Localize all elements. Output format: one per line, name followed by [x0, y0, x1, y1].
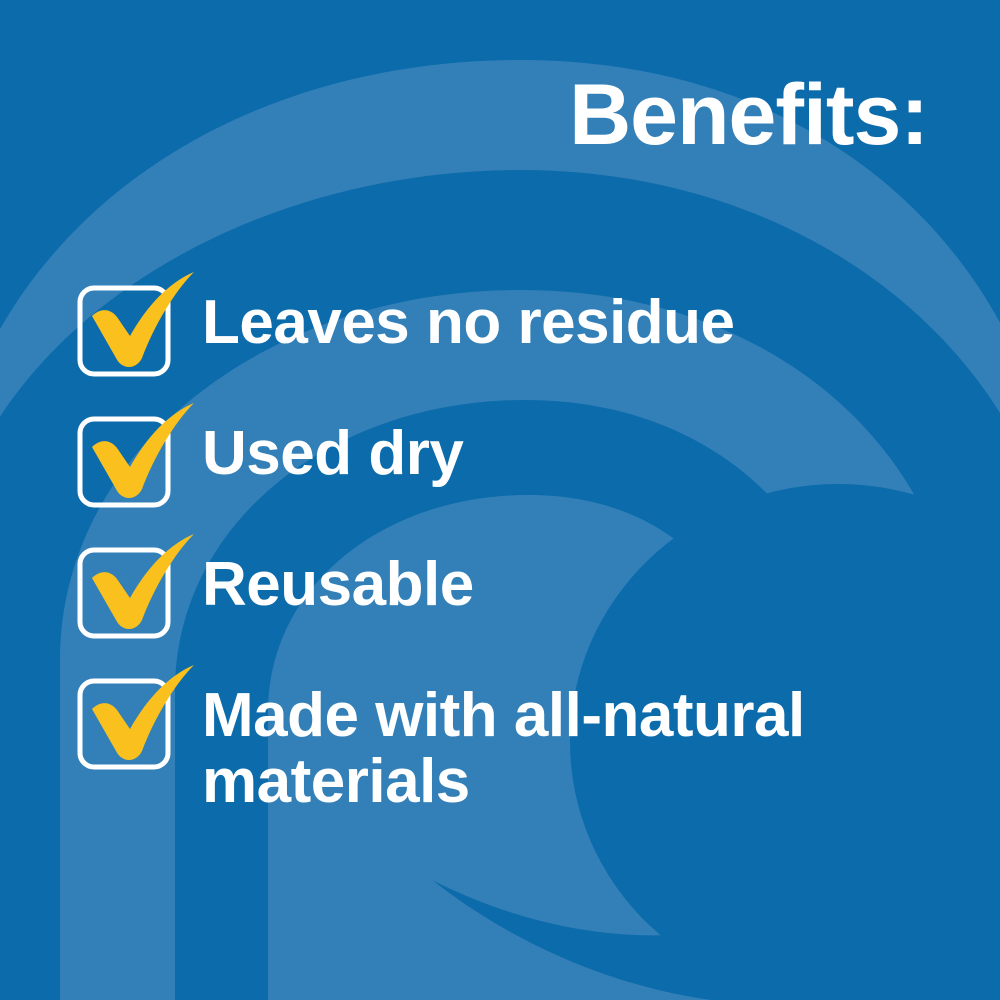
list-item: Made with all-natural materials: [70, 661, 970, 815]
checkbox-checked-icon: [70, 663, 202, 773]
list-item-label: Reusable: [202, 530, 474, 618]
list-item-label: Made with all-natural materials: [202, 661, 892, 815]
checkbox-checked-icon: [70, 532, 202, 642]
checkbox-checked-icon: [70, 270, 202, 380]
list-item: Leaves no residue: [70, 268, 970, 380]
checkbox-checked-icon: [70, 401, 202, 511]
benefits-graphic: Benefits: Leaves no residue: [0, 0, 1000, 1000]
content-layer: Benefits: Leaves no residue: [0, 0, 1000, 1000]
list-item: Used dry: [70, 399, 970, 511]
page-title: Benefits:: [569, 72, 928, 158]
list-item-label: Used dry: [202, 399, 463, 487]
list-item: Reusable: [70, 530, 970, 642]
list-item-label: Leaves no residue: [202, 268, 735, 356]
